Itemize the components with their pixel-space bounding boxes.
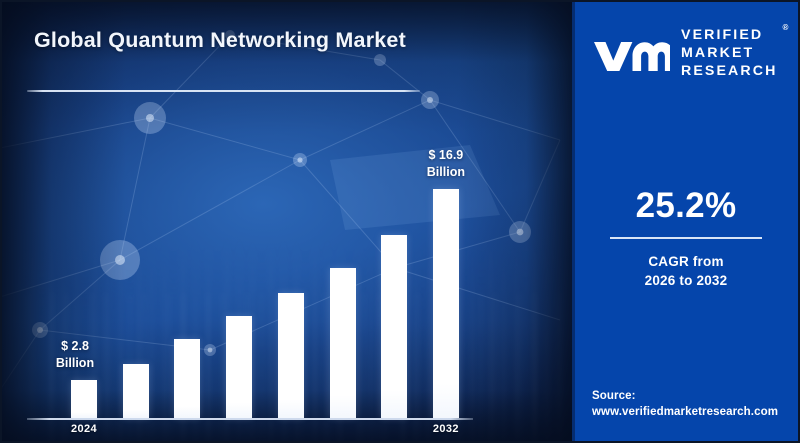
value-label-unit: Billion [406,164,486,181]
brand-side-panel: VERIFIED MARKET RESEARCH ® 25.2% CAGR fr… [572,0,800,443]
x-tick-label-2032: 2032 [416,423,476,435]
value-label-amount: $ 16.9 [406,147,486,164]
cagr-caption: CAGR from 2026 to 2032 [572,252,800,291]
source-block: Source: www.verifiedmarketresearch.com [592,388,778,421]
brand-line-verified: VERIFIED [681,26,777,44]
source-url[interactable]: www.verifiedmarketresearch.com [592,404,778,421]
source-label: Source: [592,388,778,405]
bar-2029 [330,268,356,418]
chart-panel: Global Quantum Networking Market 2024203… [0,0,572,443]
bar-2026 [174,339,200,418]
bar-2030 [381,235,407,418]
brand-wordmark: VERIFIED MARKET RESEARCH ® [681,26,777,81]
registered-trademark-icon: ® [783,23,789,33]
bar-2028 [278,293,304,418]
infographic-root: Global Quantum Networking Market 2024203… [0,0,800,443]
value-label-unit: Billion [35,355,115,372]
bar-chart-plot: 20242032$ 2.8Billion$ 16.9Billion [0,0,572,443]
brand-line-market: MARKET [681,44,777,62]
value-label-amount: $ 2.8 [35,338,115,355]
value-label-2024: $ 2.8Billion [35,338,115,371]
x-tick-label-2024: 2024 [54,423,114,435]
cagr-divider [610,237,762,239]
vmr-logo-icon [592,33,670,73]
cagr-caption-line1: CAGR from [572,252,800,272]
bar-2032 [433,189,459,418]
brand-logo[interactable]: VERIFIED MARKET RESEARCH ® [592,26,777,81]
bar-2024 [71,380,97,418]
cagr-caption-line2: 2026 to 2032 [572,271,800,291]
brand-line-research: RESEARCH [681,62,777,80]
value-label-2032: $ 16.9Billion [406,147,486,180]
bar-2025 [123,364,149,418]
cagr-block: 25.2% CAGR from 2026 to 2032 [572,188,800,291]
cagr-value: 25.2% [572,188,800,223]
x-axis-line [27,418,473,420]
bar-2027 [226,316,252,418]
